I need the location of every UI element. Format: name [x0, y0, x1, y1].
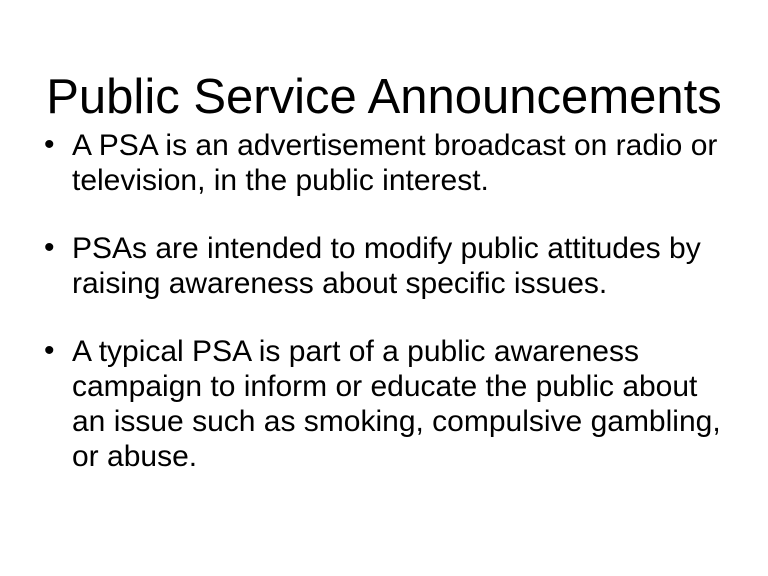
bullet-item: • PSAs are intended to modify public att… [40, 231, 732, 301]
presentation-slide: Public Service Announcements • A PSA is … [0, 0, 768, 576]
bullet-item-text: PSAs are intended to modify public attit… [72, 231, 732, 301]
slide-title: Public Service Announcements [0, 69, 768, 125]
bullet-point-icon: • [44, 128, 64, 163]
bullet-list: • A PSA is an advertisement broadcast on… [40, 128, 732, 474]
bullet-item: • A PSA is an advertisement broadcast on… [40, 128, 732, 198]
bullet-item: • A typical PSA is part of a public awar… [40, 334, 732, 474]
bullet-item-text: A typical PSA is part of a public awaren… [72, 334, 732, 474]
slide-body: • A PSA is an advertisement broadcast on… [40, 128, 732, 474]
bullet-point-icon: • [44, 231, 64, 266]
bullet-item-text: A PSA is an advertisement broadcast on r… [72, 128, 732, 198]
bullet-point-icon: • [44, 334, 64, 369]
